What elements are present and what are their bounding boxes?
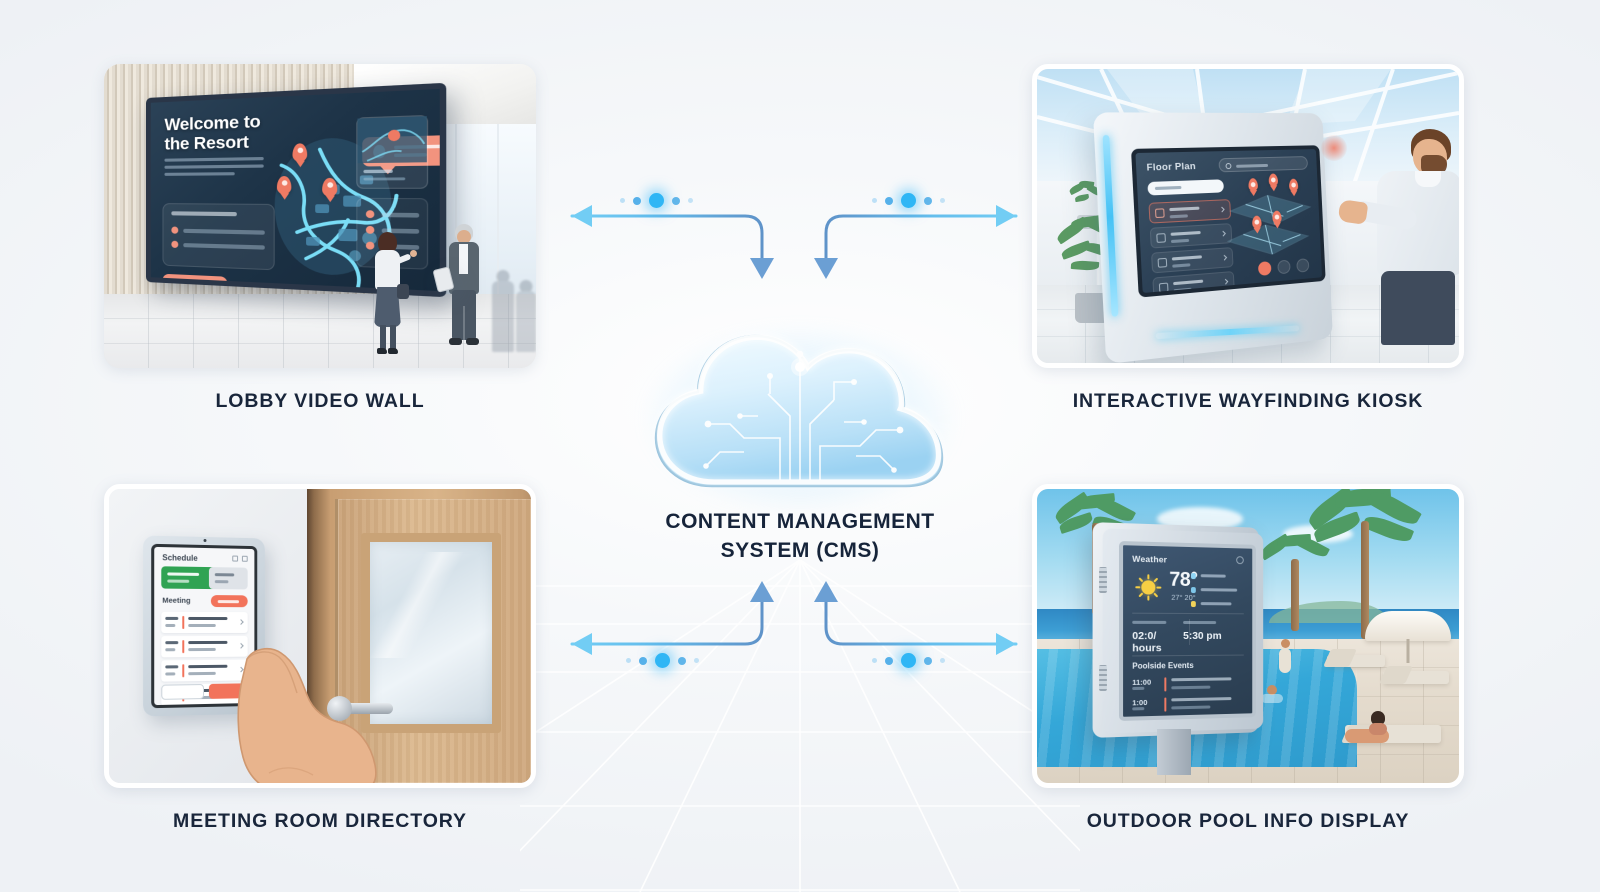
event-row[interactable]: 1:00: [1132, 696, 1244, 698]
kiosk-user-man: [1367, 129, 1459, 345]
sun-icon: [1135, 574, 1161, 601]
node-label-interactive-wayfinding-kiosk: INTERACTIVE WAYFINDING KIOSK: [1032, 390, 1464, 413]
category-icon: [1156, 233, 1166, 243]
perspective-floor-grid: [520, 560, 1080, 892]
lobby-background-person-1: [492, 270, 514, 352]
lobby-visitor-woman: [369, 232, 405, 356]
architecture-diagram: Welcome to the Resort: [0, 0, 1600, 892]
category-icon: [1158, 258, 1168, 268]
panel-meeting-room-directory[interactable]: Schedule Meeting: [104, 484, 536, 788]
kiosk-map-pin-4[interactable]: [1252, 215, 1262, 228]
lobby-staff-man: [444, 224, 484, 356]
vertical-divider: [1189, 619, 1190, 645]
category-icon: [1155, 208, 1165, 218]
user-hand-touching-tablet: [229, 623, 379, 783]
panel-outdoor-pool-info-display[interactable]: Weather 78°: [1032, 484, 1464, 788]
video-wall-side-card-preview: [356, 115, 428, 189]
weather-section-title: Weather: [1132, 554, 1167, 565]
tablet-camera: [204, 539, 207, 542]
pulse-dots-bottom-left: [626, 653, 699, 668]
weather-stats-list: [1191, 571, 1245, 613]
connector-bottom-left-path: [572, 581, 774, 655]
kiosk-support-post: [1157, 729, 1191, 775]
weather-stat: [1191, 571, 1245, 583]
weather-stat: [1191, 585, 1245, 597]
divider: [1132, 613, 1244, 615]
pool-info-screen[interactable]: Weather 78°: [1119, 541, 1256, 721]
kiosk-floor-plan-map[interactable]: [1224, 184, 1316, 266]
outdoor-info-kiosk[interactable]: Weather 78°: [1093, 525, 1281, 775]
panel-lobby-video-wall[interactable]: Welcome to the Resort: [104, 64, 536, 368]
kiosk-action-buttons[interactable]: [1258, 258, 1309, 276]
kiosk-map-pin-2[interactable]: [1268, 173, 1278, 186]
node-label-lobby-video-wall: LOBBY VIDEO WALL: [104, 390, 536, 413]
kiosk-search-bar[interactable]: [1218, 156, 1308, 172]
node-interactive-wayfinding-kiosk[interactable]: Floor Plan: [1032, 64, 1464, 413]
connector-top-right-path: [814, 205, 1016, 279]
kiosk-action-tertiary[interactable]: [1296, 258, 1309, 272]
lounger-1: [1327, 655, 1385, 667]
book-now-button[interactable]: [211, 595, 248, 607]
kiosk-vent-bottom: [1099, 665, 1107, 691]
node-lobby-video-wall[interactable]: Welcome to the Resort: [104, 64, 536, 413]
connector-top-left-path: [572, 205, 774, 279]
kiosk-action-secondary[interactable]: [1277, 260, 1290, 275]
kiosk-map-pin-5[interactable]: [1272, 210, 1282, 223]
pulse-dots-bottom-right: [872, 653, 945, 668]
panel-interactive-wayfinding-kiosk[interactable]: Floor Plan: [1032, 64, 1464, 368]
chevron-right-icon: [1223, 279, 1228, 285]
node-outdoor-pool-info-display[interactable]: Weather 78°: [1032, 484, 1464, 833]
map-pin-1[interactable]: [292, 143, 307, 162]
kiosk-menu-item[interactable]: [1148, 199, 1231, 224]
cloud-circuit-icon[interactable]: [648, 320, 952, 506]
kiosk-map-pin-3[interactable]: [1289, 179, 1299, 192]
schedule-title: Schedule: [162, 553, 197, 563]
kiosk-touch-highlight: [1321, 135, 1347, 161]
lobby-background-person-2: [516, 280, 536, 352]
kiosk-map-pin-1[interactable]: [1248, 178, 1258, 191]
map-pin-3[interactable]: [322, 178, 337, 197]
events-section-title: Poolside Events: [1132, 661, 1193, 671]
map-pin-2[interactable]: [277, 176, 291, 194]
kiosk-menu-item[interactable]: [1150, 223, 1233, 248]
hub-content-management-system[interactable]: CONTENT MANAGEMENT SYSTEM (CMS): [620, 318, 980, 568]
cancel-button[interactable]: [161, 684, 203, 700]
kiosk-input-field[interactable]: [1147, 179, 1224, 195]
current-time-card: [209, 567, 248, 589]
event-row[interactable]: 11:00: [1132, 676, 1244, 678]
node-meeting-room-directory[interactable]: Schedule Meeting: [104, 484, 536, 833]
kiosk-vent-top: [1099, 567, 1107, 593]
hub-label: CONTENT MANAGEMENT SYSTEM (CMS): [620, 508, 980, 566]
lounger-2: [1383, 671, 1449, 684]
weather-stat: [1191, 599, 1245, 610]
pulse-dots-top-left: [620, 193, 693, 208]
gear-icon[interactable]: [1236, 556, 1244, 564]
node-label-meeting-room-directory: MEETING ROOM DIRECTORY: [104, 810, 536, 833]
kiosk-action-primary[interactable]: [1258, 261, 1272, 276]
divider: [1132, 655, 1244, 657]
search-icon: [1225, 163, 1231, 169]
kiosk-screen-title: Floor Plan: [1146, 161, 1196, 174]
sync-icon[interactable]: [232, 556, 238, 562]
pulse-dots-top-right: [872, 193, 945, 208]
kiosk-category-menu[interactable]: [1148, 199, 1234, 297]
kiosk-touchscreen[interactable]: Floor Plan: [1131, 145, 1326, 297]
kiosk-menu-item[interactable]: [1151, 247, 1233, 273]
connector-bottom-right-path: [814, 581, 1016, 655]
pool-guest-reclining: [1345, 711, 1389, 751]
settings-icon[interactable]: [242, 556, 248, 562]
meeting-section-title: Meeting: [162, 596, 190, 605]
category-icon: [1159, 283, 1169, 293]
node-label-outdoor-pool-info-display: OUTDOOR POOL INFO DISPLAY: [1032, 810, 1464, 833]
video-wall-body-text: [164, 157, 263, 180]
video-wall-updates-card: [162, 203, 274, 270]
video-wall-headline: Welcome to the Resort: [164, 112, 260, 154]
